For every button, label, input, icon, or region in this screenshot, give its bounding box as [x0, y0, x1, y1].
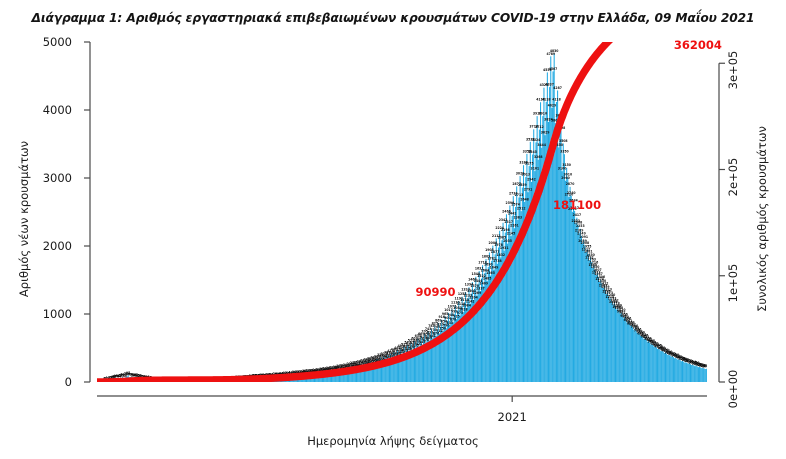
bar: [608, 295, 609, 382]
bar-value-label: 2383: [514, 215, 523, 219]
bar: [582, 243, 583, 382]
y-axis-left-tick: 0: [65, 375, 72, 389]
bar: [575, 223, 576, 382]
bar-value-label: 4118: [552, 97, 561, 101]
bar-value-label: 3101: [531, 167, 540, 171]
bar-value-label: 3444: [537, 143, 546, 147]
bar: [593, 265, 594, 382]
bar: [632, 327, 633, 382]
bar: [590, 258, 591, 382]
y-axis-left-tick: 2000: [43, 239, 72, 253]
bar: [627, 321, 628, 382]
bar: [652, 345, 653, 382]
chart-figure: Διάγραμμα 1: Αριθμός εργαστηριακά επιβεβ…: [0, 0, 786, 459]
bar: [671, 357, 672, 382]
bar: [649, 342, 650, 382]
bar-value-label: 1830: [586, 253, 595, 257]
bar-value-label: 4287: [553, 86, 562, 90]
bar: [640, 336, 641, 382]
bar-value-label: 1337: [476, 286, 485, 290]
bar: [683, 362, 684, 382]
bar-value-label: 3013: [521, 173, 530, 177]
bar: [581, 236, 582, 382]
bar-value-label: 1269: [473, 291, 482, 295]
bar: [604, 286, 605, 382]
bar: [589, 260, 590, 382]
bar-value-label: 4567: [549, 67, 558, 71]
bar: [631, 325, 632, 382]
bar-value-label: 2253: [576, 224, 585, 228]
bar: [696, 366, 697, 382]
bar-value-label: 2942: [527, 177, 536, 181]
bar: [704, 368, 705, 382]
bar: [625, 319, 626, 382]
bar: [646, 340, 647, 382]
bar: [568, 197, 569, 382]
y-axis-left: 010002000300040005000: [38, 0, 90, 459]
bar: [691, 365, 692, 382]
bar: [574, 211, 575, 382]
bar-value-label: 2417: [573, 213, 582, 217]
cumulative-annotation: 181100: [553, 198, 601, 212]
bar: [623, 318, 624, 382]
y-axis-right-tick: 2e+05: [726, 157, 740, 196]
bar: [457, 310, 458, 382]
bar: [558, 147, 559, 382]
bar: [645, 338, 646, 382]
bar: [464, 302, 465, 382]
bar-value-label: 4118: [542, 97, 551, 101]
bar: [662, 351, 663, 382]
bar: [675, 358, 676, 382]
bar-value-label: 3345: [528, 150, 537, 154]
bar-value-label: 2859: [518, 183, 527, 187]
bar: [615, 306, 616, 382]
bar: [680, 360, 681, 382]
bar: [579, 233, 580, 382]
bar-value-label: 975: [457, 311, 463, 315]
bar: [592, 268, 593, 382]
bar-value-label: 1716: [590, 261, 599, 265]
bar-value-label: 2261: [510, 224, 519, 228]
bar: [564, 154, 565, 382]
bar: [647, 342, 648, 382]
bar: [672, 356, 673, 382]
bar-value-label: 1649: [490, 265, 499, 269]
plot-area: 8141017921263132454840504461607356497881…: [97, 42, 707, 382]
bar: [650, 344, 651, 382]
chart-canvas: 8141017921263132454840504461607356497881…: [97, 42, 707, 382]
bar: [698, 367, 699, 382]
bar: [670, 355, 671, 382]
bar-value-label: 1485: [483, 276, 492, 280]
bar: [685, 362, 686, 382]
cumulative-annotation: 362004: [674, 38, 722, 52]
bar: [597, 273, 598, 382]
bar-value-label: 1931: [500, 246, 509, 250]
bar: [609, 299, 610, 382]
x-axis-tick-2021: 2021: [498, 410, 527, 424]
bar: [690, 364, 691, 382]
bar: [677, 360, 678, 382]
bar-value-label: 1409: [479, 282, 488, 286]
bar-value-label: 1204: [469, 296, 478, 300]
bar: [626, 322, 627, 382]
bar: [612, 301, 613, 382]
bar-value-label: 4830: [550, 49, 559, 53]
bar-value-label: 2713: [515, 193, 524, 197]
bar: [638, 332, 639, 382]
bar-value-label: 2145: [507, 232, 516, 236]
bar: [655, 346, 656, 382]
bar: [613, 305, 614, 382]
bar: [587, 249, 588, 382]
bar: [616, 310, 617, 382]
bar: [682, 361, 683, 382]
bar: [688, 364, 689, 382]
bar: [654, 347, 655, 382]
bar: [607, 292, 608, 382]
bar: [606, 294, 607, 382]
bar-value-label: 3175: [525, 162, 534, 166]
bar: [637, 333, 638, 382]
bar-value-label: 3524: [532, 138, 541, 142]
bar: [663, 352, 664, 382]
bar: [702, 368, 703, 382]
bar: [572, 212, 573, 382]
bar: [656, 347, 657, 382]
bar: [605, 290, 606, 382]
bar: [648, 341, 649, 382]
bar: [665, 352, 666, 382]
x-axis-label: Ημερομηνία λήψης δείγματος: [0, 434, 786, 448]
y-axis-right-tick: 0e+00: [726, 370, 740, 409]
bar: [598, 277, 599, 382]
bar-value-label: 3712: [535, 125, 544, 129]
bar: [584, 245, 585, 382]
bar-value-label: 2091: [579, 235, 588, 239]
bar-value-label: 1028: [459, 308, 468, 312]
chart-title: Διάγραμμα 1: Αριθμός εργαστηριακά επιβεβ…: [0, 11, 786, 25]
bar: [687, 363, 688, 382]
bar: [596, 275, 597, 382]
bar: [559, 118, 560, 382]
bar: [695, 366, 696, 382]
bar: [642, 337, 643, 382]
bar: [705, 369, 706, 382]
bar: [621, 313, 622, 382]
bar: [570, 187, 571, 382]
bar: [618, 311, 619, 382]
bar: [601, 283, 602, 382]
y-axis-left-tick: 1000: [43, 307, 72, 321]
bar-value-label: 1955: [583, 244, 592, 248]
cumulative-annotation: 90990: [416, 285, 456, 299]
y-axis-left-tick: 3000: [43, 171, 72, 185]
bar: [693, 365, 694, 382]
bar: [700, 367, 701, 382]
bar-value-label: 4029: [548, 103, 557, 107]
bar: [664, 353, 665, 382]
bar: [701, 368, 702, 382]
bar: [624, 317, 625, 382]
bar-value-label: 1738: [493, 259, 502, 263]
bar: [461, 307, 462, 382]
bar-value-label: 3910: [538, 112, 547, 116]
bar-value-label: 2648: [520, 197, 529, 201]
bar: [610, 298, 611, 382]
bar: [588, 254, 589, 382]
bar: [571, 196, 572, 382]
bar-value-label: 3508: [559, 139, 568, 143]
bar: [614, 303, 615, 382]
y-axis-right-tick: 3e+05: [726, 51, 740, 90]
bar: [629, 323, 630, 382]
bar: [580, 229, 581, 382]
bar: [699, 367, 700, 382]
bar: [666, 354, 667, 382]
bar-value-label: 2512: [517, 207, 526, 211]
bar: [622, 315, 623, 382]
bar-value-label: 2870: [566, 182, 575, 186]
y-axis-right-label: Συνολικός αριθμός κρουσμάτων: [755, 99, 769, 339]
bar: [641, 335, 642, 382]
bar-value-label: 3629: [541, 131, 550, 135]
bar: [630, 326, 631, 382]
bar: [620, 314, 621, 382]
bar-series: [97, 54, 707, 382]
bar: [599, 282, 600, 382]
bar: [555, 123, 556, 382]
bar-value-label: 3268: [534, 155, 543, 159]
bar: [668, 354, 669, 382]
bar-value-label: 1142: [466, 300, 475, 304]
y-axis-left-label: Αριθμός νέων κρουσμάτων: [17, 99, 31, 339]
bar-value-label: 2740: [567, 191, 576, 195]
bar: [585, 252, 586, 382]
bar-value-label: 3350: [560, 150, 569, 154]
bar: [600, 280, 601, 382]
bar: [578, 225, 579, 382]
bar: [673, 357, 674, 382]
bar-value-label: 2035: [503, 239, 512, 243]
bar-value-label: 3010: [563, 173, 572, 177]
bar: [660, 351, 661, 382]
bar-value-label: 1565: [486, 271, 495, 275]
bar: [576, 218, 577, 382]
bar: [634, 329, 635, 382]
bar-value-label: 1084: [462, 304, 471, 308]
bar-value-label: 2791: [524, 188, 533, 192]
bar: [697, 366, 698, 382]
bar: [635, 331, 636, 382]
y-axis-left-tick: 4000: [43, 103, 72, 117]
bar: [573, 203, 574, 382]
bar-value-label: 1832: [496, 253, 505, 257]
bar-value-label: 195: [703, 364, 707, 368]
bar: [706, 369, 707, 382]
bar: [651, 344, 652, 382]
bar: [689, 364, 690, 383]
bar: [692, 365, 693, 382]
bar: [676, 359, 677, 382]
bar: [679, 359, 680, 382]
bar-value-label: 3150: [562, 163, 571, 167]
bar: [633, 330, 634, 382]
y-axis-left-tick: 5000: [43, 35, 72, 49]
bar: [595, 270, 596, 382]
bar: [617, 308, 618, 382]
bar: [643, 339, 644, 382]
bar: [659, 350, 660, 382]
bar: [583, 240, 584, 382]
bar: [657, 349, 658, 382]
bar: [681, 361, 682, 382]
bar: [684, 363, 685, 382]
bar: [602, 288, 603, 382]
bar: [591, 262, 592, 382]
bar: [658, 348, 659, 382]
y-axis-right-tick: 1e+05: [726, 263, 740, 302]
bar: [639, 334, 640, 382]
bar: [667, 355, 668, 382]
bar: [674, 358, 675, 382]
